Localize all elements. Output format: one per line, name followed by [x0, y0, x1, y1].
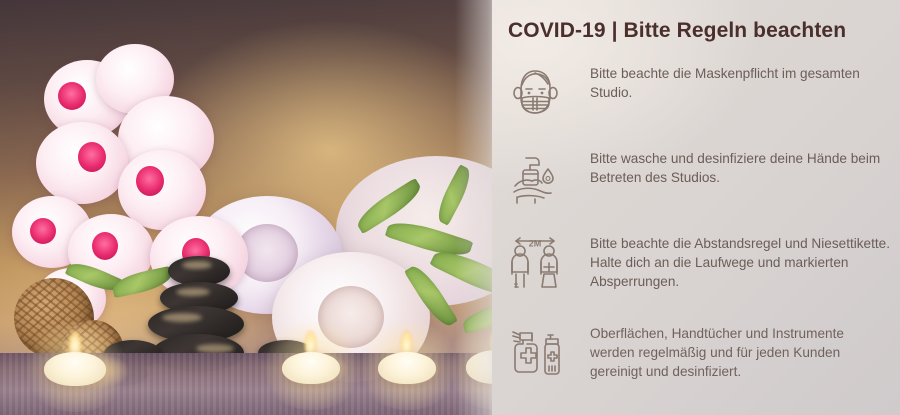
list-item: 2M Bitte beachte die Abstandsregel und N…: [492, 232, 900, 322]
covid-rules-banner: COVID-19 | Bitte Regeln beachten: [0, 0, 900, 415]
rules-panel: COVID-19 | Bitte Regeln beachten: [492, 0, 900, 415]
list-item-text: Bitte beachte die Maskenpflicht im gesam…: [590, 64, 890, 102]
list-item-text: Bitte wasche und desinfiziere deine Händ…: [590, 149, 890, 187]
page-title: COVID-19 | Bitte Regeln beachten: [508, 19, 846, 43]
spray-disinfectant-icon: [504, 322, 566, 384]
hand-wash-sanitizer-icon: [504, 147, 566, 209]
list-item-text: Bitte beachte die Abstandsregel und Nies…: [590, 234, 890, 291]
face-mask-icon: [504, 62, 566, 124]
list-item: Bitte beachte die Maskenpflicht im gesam…: [492, 62, 900, 147]
svg-text:2M: 2M: [529, 239, 542, 249]
list-item: Bitte wasche und desinfiziere deine Händ…: [492, 147, 900, 232]
photo-white-fade-overlay: [0, 0, 530, 415]
social-distance-2m-icon: 2M: [504, 232, 566, 294]
list-item-text: Oberflächen, Handtücher und Instrumente …: [590, 324, 890, 381]
rules-list: Bitte beachte die Maskenpflicht im gesam…: [492, 62, 900, 407]
spa-photo: [0, 0, 530, 415]
list-item: Oberflächen, Handtücher und Instrumente …: [492, 322, 900, 407]
